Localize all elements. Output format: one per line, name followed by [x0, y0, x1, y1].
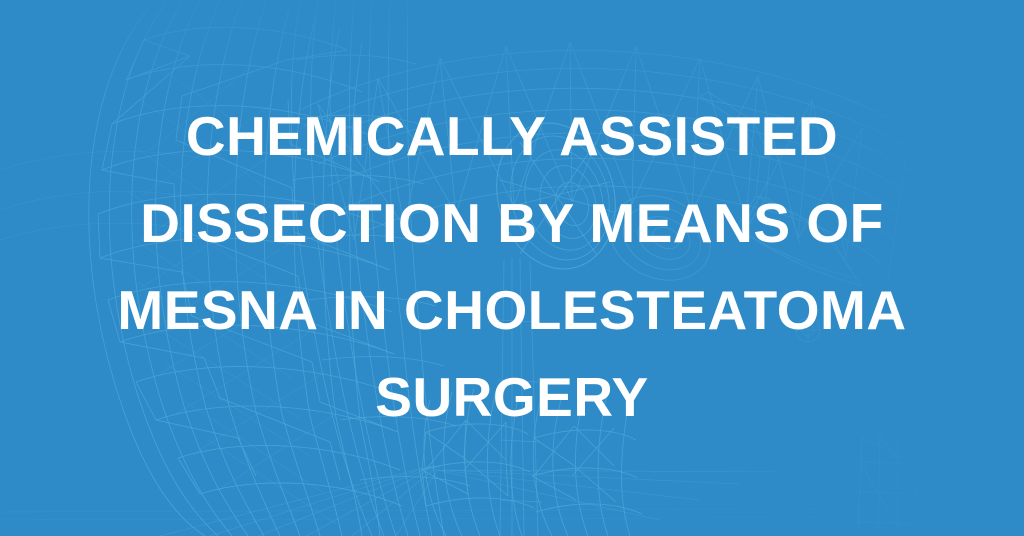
title-line-1: CHEMICALLY ASSISTED	[0, 93, 1024, 180]
article-title-banner: CHEMICALLY ASSISTED DISSECTION BY MEANS …	[0, 0, 1024, 536]
title-line-4: SURGERY	[0, 354, 1024, 441]
title-line-2: DISSECTION BY MEANS OF	[0, 180, 1024, 267]
title-line-3: MESNA IN CHOLESTEATOMA	[0, 267, 1024, 354]
page-title: CHEMICALLY ASSISTED DISSECTION BY MEANS …	[0, 0, 1024, 536]
